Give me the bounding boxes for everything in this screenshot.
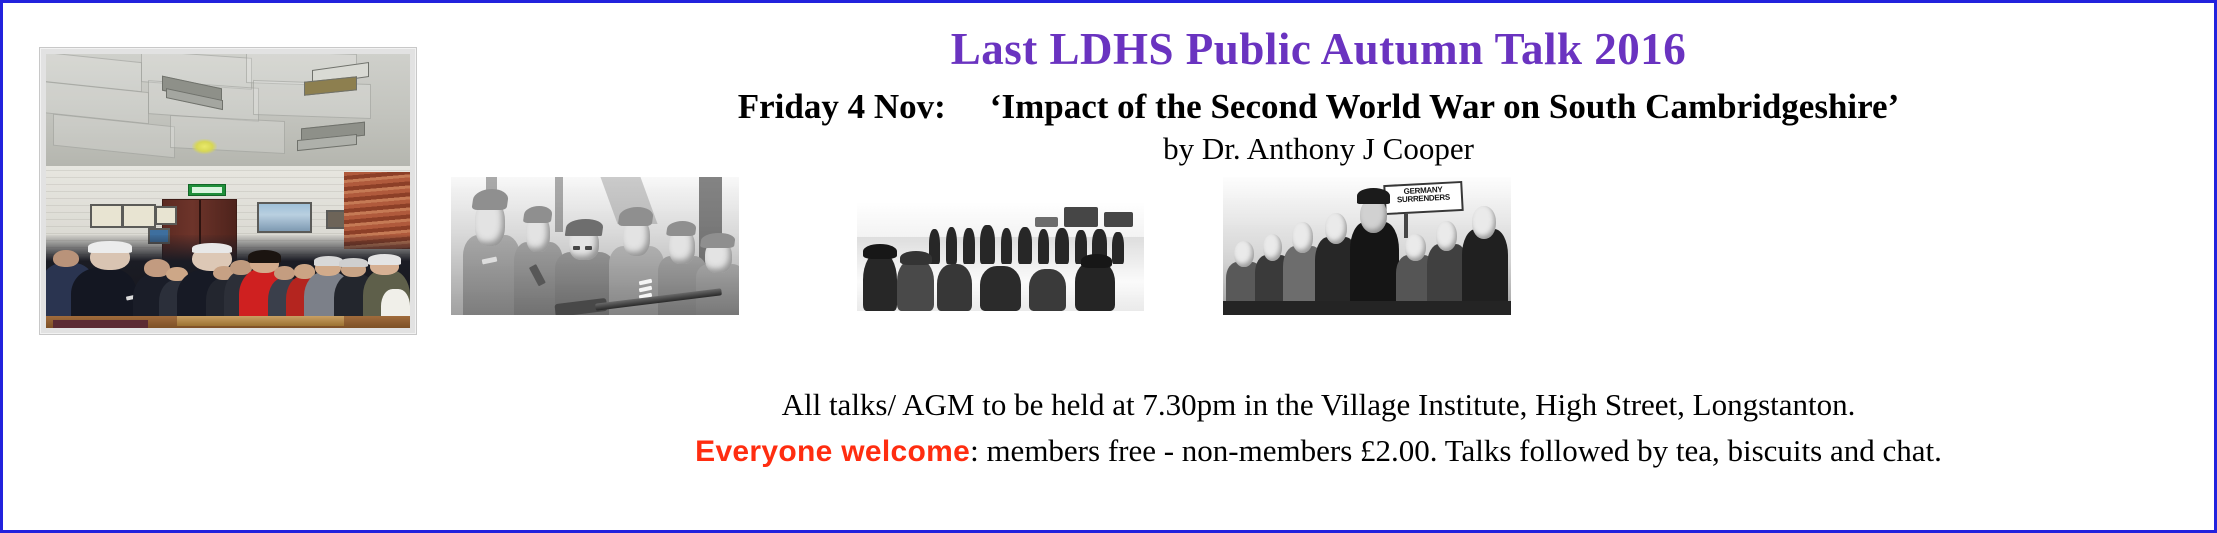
hall-chair	[53, 320, 148, 328]
beach-landing-photo	[857, 187, 1144, 311]
soldier-body	[463, 235, 521, 315]
landing-vehicle	[1104, 212, 1133, 227]
ve-day-photo: GERMANY SURRENDERS	[1223, 177, 1511, 315]
ceiling	[46, 54, 410, 169]
spectacles	[573, 246, 580, 250]
page-title: Last LDHS Public Autumn Talk 2016	[429, 23, 2208, 75]
soldier	[463, 177, 521, 315]
ceiling-tile	[53, 113, 175, 158]
audience-head	[274, 266, 296, 281]
audience-photo-frame	[39, 47, 417, 335]
soldier-foreground	[980, 266, 1020, 311]
soldier-figure	[1001, 228, 1012, 264]
exit-sign	[188, 184, 226, 196]
audience-hair	[368, 254, 401, 264]
soldier-cap	[471, 189, 508, 210]
hall-table	[177, 316, 344, 326]
wall-certificate	[122, 204, 155, 229]
crowd-head	[1234, 241, 1254, 267]
soldier-foreground	[937, 264, 971, 311]
soldier-figure	[1055, 228, 1069, 264]
soldier-cap	[618, 207, 655, 226]
soldier-figure	[1038, 229, 1049, 264]
ceiling-lamp	[192, 139, 217, 154]
crowd-head	[1263, 234, 1282, 261]
audience-hair	[339, 258, 368, 267]
soldier-foreground	[863, 251, 897, 311]
crowd-head	[1405, 234, 1426, 261]
ceiling-tile	[170, 115, 285, 154]
crowd-head	[1292, 222, 1313, 252]
talk-title: ‘Impact of the Second World War on South…	[990, 87, 1899, 126]
soldier-figure	[1018, 227, 1032, 264]
talk-speaker: by Dr. Anthony J Cooper	[429, 131, 2208, 167]
helmet	[900, 251, 932, 265]
soldier	[696, 224, 739, 315]
welcome-emphasis: Everyone welcome	[695, 435, 970, 468]
soldier-foreground	[1029, 269, 1066, 311]
audience-hair	[248, 250, 281, 263]
welcome-details: : members free - non-members £2.00. Talk…	[970, 433, 1942, 468]
content-column: Last LDHS Public Autumn Talk 2016 Friday…	[429, 9, 2208, 524]
soldier-cap	[666, 221, 698, 236]
audience-hair	[88, 241, 132, 252]
soldier-cap	[700, 233, 736, 248]
peaked-cap	[1357, 188, 1390, 204]
soldier-figure	[963, 228, 974, 264]
helmet	[1081, 254, 1113, 268]
venue-info: All talks/ AGM to be held at 7.30pm in t…	[429, 387, 2208, 423]
soldier-figure	[1112, 232, 1123, 264]
wall-painting	[257, 202, 312, 232]
soldier-foreground	[897, 259, 934, 311]
crowd-person-foreground	[1350, 183, 1399, 315]
foreground-shadow	[1223, 301, 1511, 315]
crowd-head	[1325, 213, 1347, 244]
crowd-head	[1472, 206, 1496, 239]
crowd-person	[1462, 188, 1508, 315]
banner-poster: Last LDHS Public Autumn Talk 2016 Friday…	[0, 0, 2217, 533]
welcome-info: Everyone welcome: members free - non-mem…	[429, 433, 2208, 469]
soldier-figure	[946, 227, 957, 264]
audience-hair	[192, 243, 232, 253]
audience-crowd	[46, 235, 410, 328]
soldier-peaked-cap	[564, 219, 604, 236]
audience-head	[53, 250, 78, 267]
soldier-cap	[523, 206, 554, 223]
spectacles	[585, 246, 592, 250]
banner-inner: Last LDHS Public Autumn Talk 2016 Friday…	[9, 9, 2208, 524]
wall-certificate	[155, 206, 177, 225]
crowd-head	[1436, 221, 1457, 251]
helmet	[863, 244, 897, 259]
home-guard-photo	[451, 177, 739, 315]
soldier-figure	[980, 225, 994, 263]
landing-vehicle	[1064, 207, 1098, 227]
soldier-foreground	[1075, 261, 1115, 311]
talk-date: Friday 4 Nov:	[738, 87, 946, 126]
audience-photo	[46, 54, 410, 328]
talk-headline: Friday 4 Nov:‘Impact of the Second World…	[429, 87, 2208, 127]
war-photo-strip: GERMANY SURRENDERS	[429, 177, 2208, 317]
landing-craft	[1035, 217, 1058, 227]
wall-certificate	[90, 204, 123, 229]
